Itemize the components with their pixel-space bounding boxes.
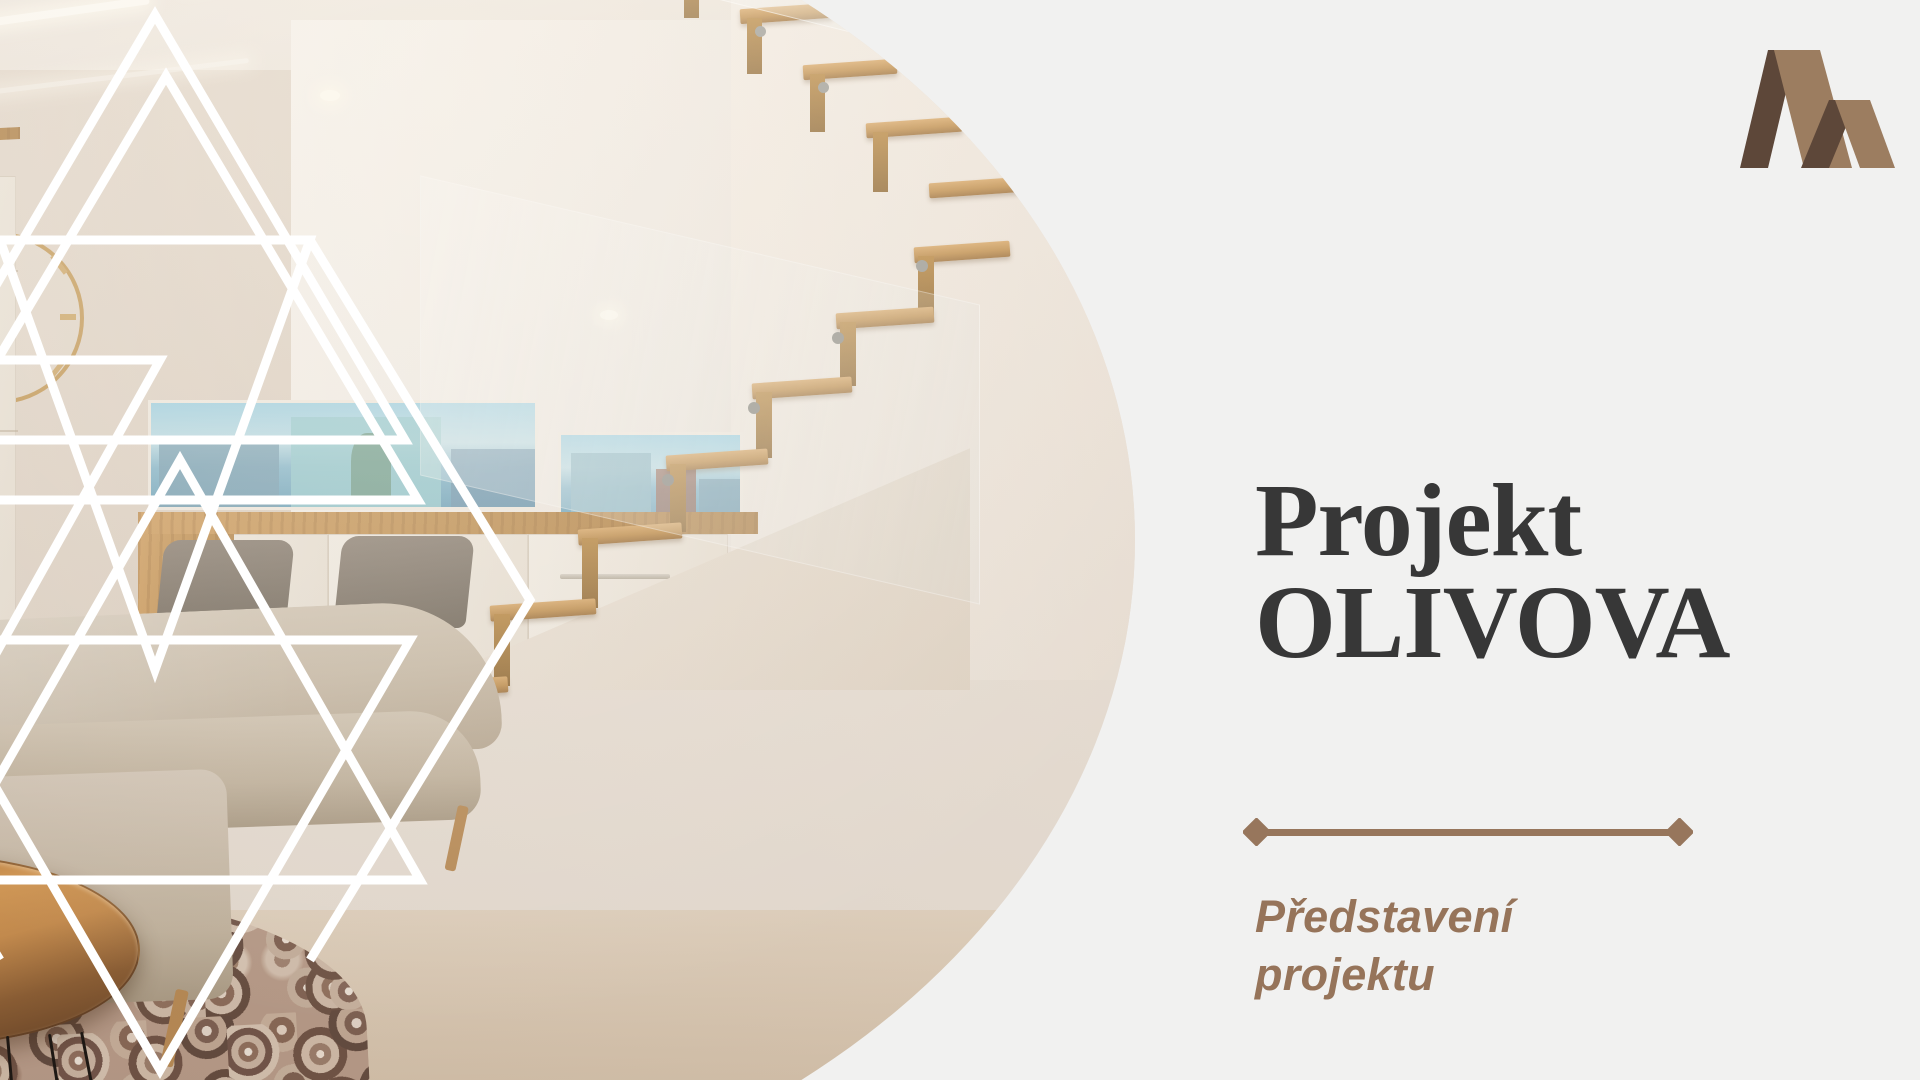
divider-diamond-right: [1665, 818, 1693, 846]
interior-photo: [0, 0, 1135, 1080]
divider-line: [1257, 829, 1679, 836]
divider: [1243, 818, 1693, 846]
brand-logo[interactable]: M: [1740, 42, 1895, 177]
presentation-slide: M Projekt OLIVOVA Představení projektu: [0, 0, 1920, 1080]
page-subtitle: Představení projektu: [1255, 888, 1655, 1003]
divider-diamond-left: [1243, 818, 1271, 846]
triangle-lattice-overlay: [0, 0, 1135, 1080]
content-column: M Projekt OLIVOVA Představení projektu: [1255, 0, 1920, 1080]
page-title: Projekt OLIVOVA: [1255, 470, 1729, 674]
hero-photo-ellipse: [0, 0, 1135, 1080]
